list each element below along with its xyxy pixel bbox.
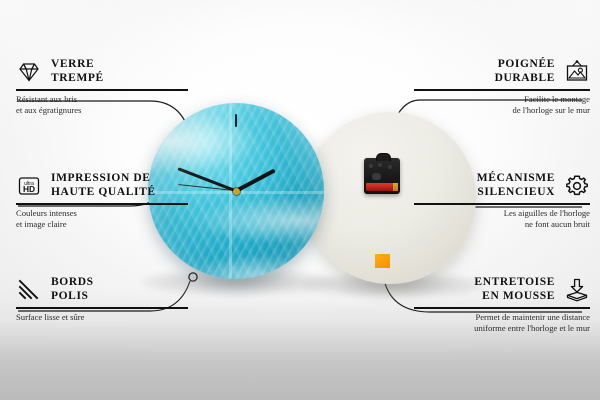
foam-spacer-icon (564, 277, 590, 303)
feature-impression-haute-qualite: ultra HD IMPRESSION DE HAUTE QUALITÉ Cou… (16, 172, 188, 229)
clock-center-cap (233, 188, 240, 195)
feature-description: Résistant aux bris et aux égratignures (16, 94, 188, 115)
feature-title: VERRE TREMPÉ (51, 58, 104, 85)
mechanism-detail-dot (378, 163, 382, 167)
battery-terminal (393, 183, 398, 191)
feature-divider (414, 307, 590, 309)
feature-verre-trempe: VERRE TREMPÉ Résistant aux bris et aux é… (16, 58, 188, 115)
feature-bords-polis: BORDS POLIS Surface lisse et sûre (16, 276, 188, 323)
gear-icon (564, 173, 590, 199)
feature-entretoise-en-mousse: ENTRETOISE EN MOUSSE Permet de maintenir… (414, 276, 590, 333)
polished-edges-icon (16, 277, 42, 303)
clock-tick (312, 136, 319, 147)
feature-divider (414, 89, 590, 91)
feature-divider (414, 203, 590, 205)
feature-poignee-durable: POIGNÉE DURABLE Facilite le montage de l… (414, 58, 590, 115)
feature-divider (16, 307, 188, 309)
mechanism-detail-dot (372, 173, 381, 180)
feature-description: Couleurs intenses et image claire (16, 208, 188, 229)
clock-tick (153, 136, 160, 147)
feature-description: Permet de maintenir une distance uniform… (414, 312, 590, 333)
mechanism-detail-dot (369, 164, 373, 168)
feature-mecanisme-silencieux: MÉCANISME SILENCIEUX Les aiguilles de l'… (414, 172, 590, 229)
feature-description: Surface lisse et sûre (16, 312, 188, 323)
picture-hanger-icon (564, 59, 590, 85)
feature-title: IMPRESSION DE HAUTE QUALITÉ (51, 172, 156, 199)
ultra-hd-icon: ultra HD (16, 173, 42, 199)
mechanism-hanger-tab (376, 153, 391, 161)
clock-tick (235, 114, 237, 127)
mechanism-detail-dot (388, 165, 392, 169)
clock-mechanism (364, 158, 400, 194)
product-infographic: VERRE TREMPÉ Résistant aux bris et aux é… (0, 0, 600, 400)
clock-battery (366, 183, 398, 191)
feature-divider (16, 203, 188, 205)
feature-title: MÉCANISME SILENCIEUX (477, 172, 555, 199)
foam-spacer-pad (375, 254, 390, 268)
diamond-icon (16, 59, 42, 85)
feature-title: BORDS POLIS (51, 276, 94, 303)
feature-description: Les aiguilles de l'horloge ne font aucun… (414, 208, 590, 229)
feature-divider (16, 89, 188, 91)
feature-title: ENTRETOISE EN MOUSSE (474, 276, 555, 303)
feature-description: Facilite le montage de l'horloge sur le … (414, 94, 590, 115)
ultra-hd-icon-bottom: HD (23, 184, 35, 194)
feature-title: POIGNÉE DURABLE (495, 58, 555, 85)
